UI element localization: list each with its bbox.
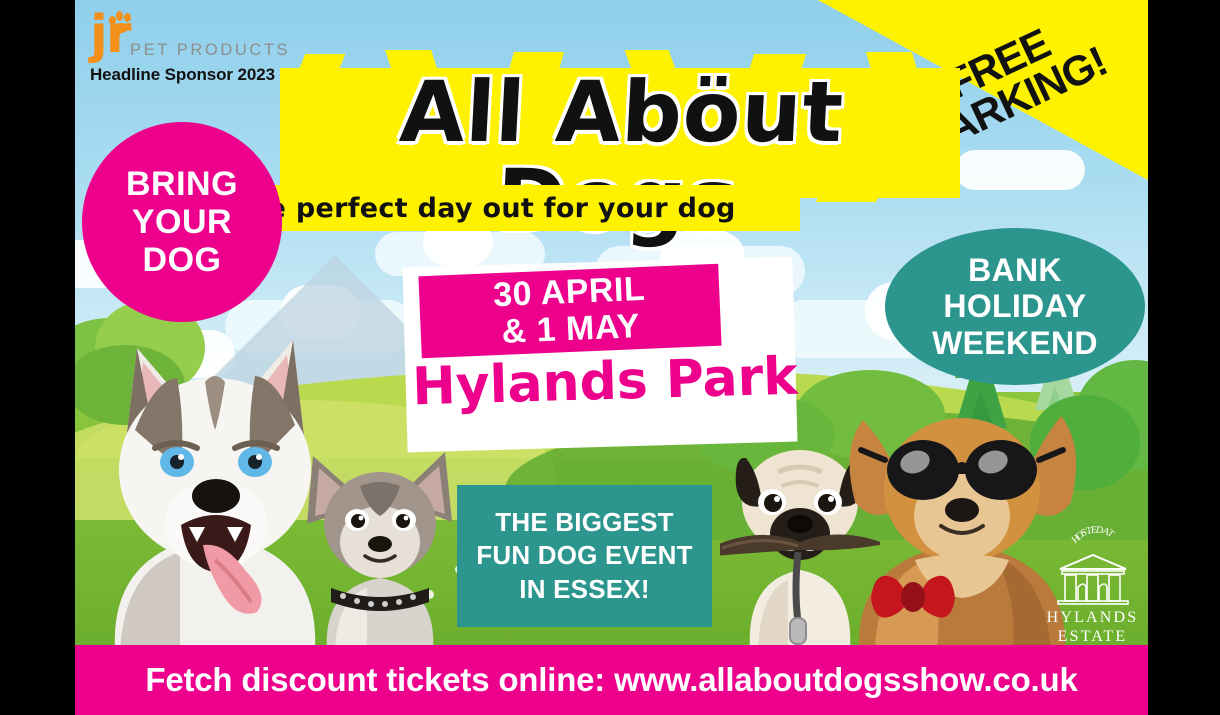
bow-tie-icon xyxy=(871,576,955,618)
paw-print-icon xyxy=(109,10,135,32)
bring-line3: DOG xyxy=(143,241,222,279)
bank-line3: WEEKEND xyxy=(932,325,1098,361)
hosted-at-arc: H O S T E D A T xyxy=(1030,525,1148,553)
host-name: HYLANDS ESTATE xyxy=(1030,609,1148,646)
ticket-banner[interactable]: Fetch discount tickets online: www.allab… xyxy=(75,645,1148,715)
badge-bring-your-dog: BRING YOUR DOG xyxy=(82,122,282,322)
dog-chihuahua xyxy=(305,438,455,650)
biggest-line3: IN ESSEX! xyxy=(519,573,649,606)
event-date-line2: & 1 MAY xyxy=(501,308,641,350)
biggest-line1: THE BIGGEST xyxy=(495,506,673,539)
host-logo: H O S T E D A T HYLANDS ESTATE xyxy=(1030,525,1148,640)
bring-line1: BRING xyxy=(126,165,238,203)
badge-bank-holiday: BANK HOLIDAY WEEKEND xyxy=(885,228,1145,385)
host-name-line1: HYLANDS xyxy=(1030,609,1148,628)
event-venue: Hylands Park xyxy=(409,347,801,418)
badge-biggest-event: THE BIGGEST FUN DOG EVENT IN ESSEX! xyxy=(457,485,712,627)
event-date-box: 30 APRIL & 1 MAY xyxy=(418,264,721,358)
ticket-banner-text: Fetch discount tickets online: www.allab… xyxy=(145,661,1077,699)
poster-artwork: jr PET PRODUCTS Headline Sponsor 2023 FR… xyxy=(75,0,1148,715)
biggest-line2: FUN DOG EVENT xyxy=(476,539,692,572)
bring-line2: YOUR xyxy=(132,203,232,241)
bank-line1: BANK xyxy=(968,252,1062,288)
host-name-line2: ESTATE xyxy=(1030,628,1148,647)
mansion-building-icon xyxy=(1056,553,1130,605)
bank-line2: HOLIDAY xyxy=(943,288,1086,324)
poster-root: jr PET PRODUCTS Headline Sponsor 2023 FR… xyxy=(0,0,1220,715)
